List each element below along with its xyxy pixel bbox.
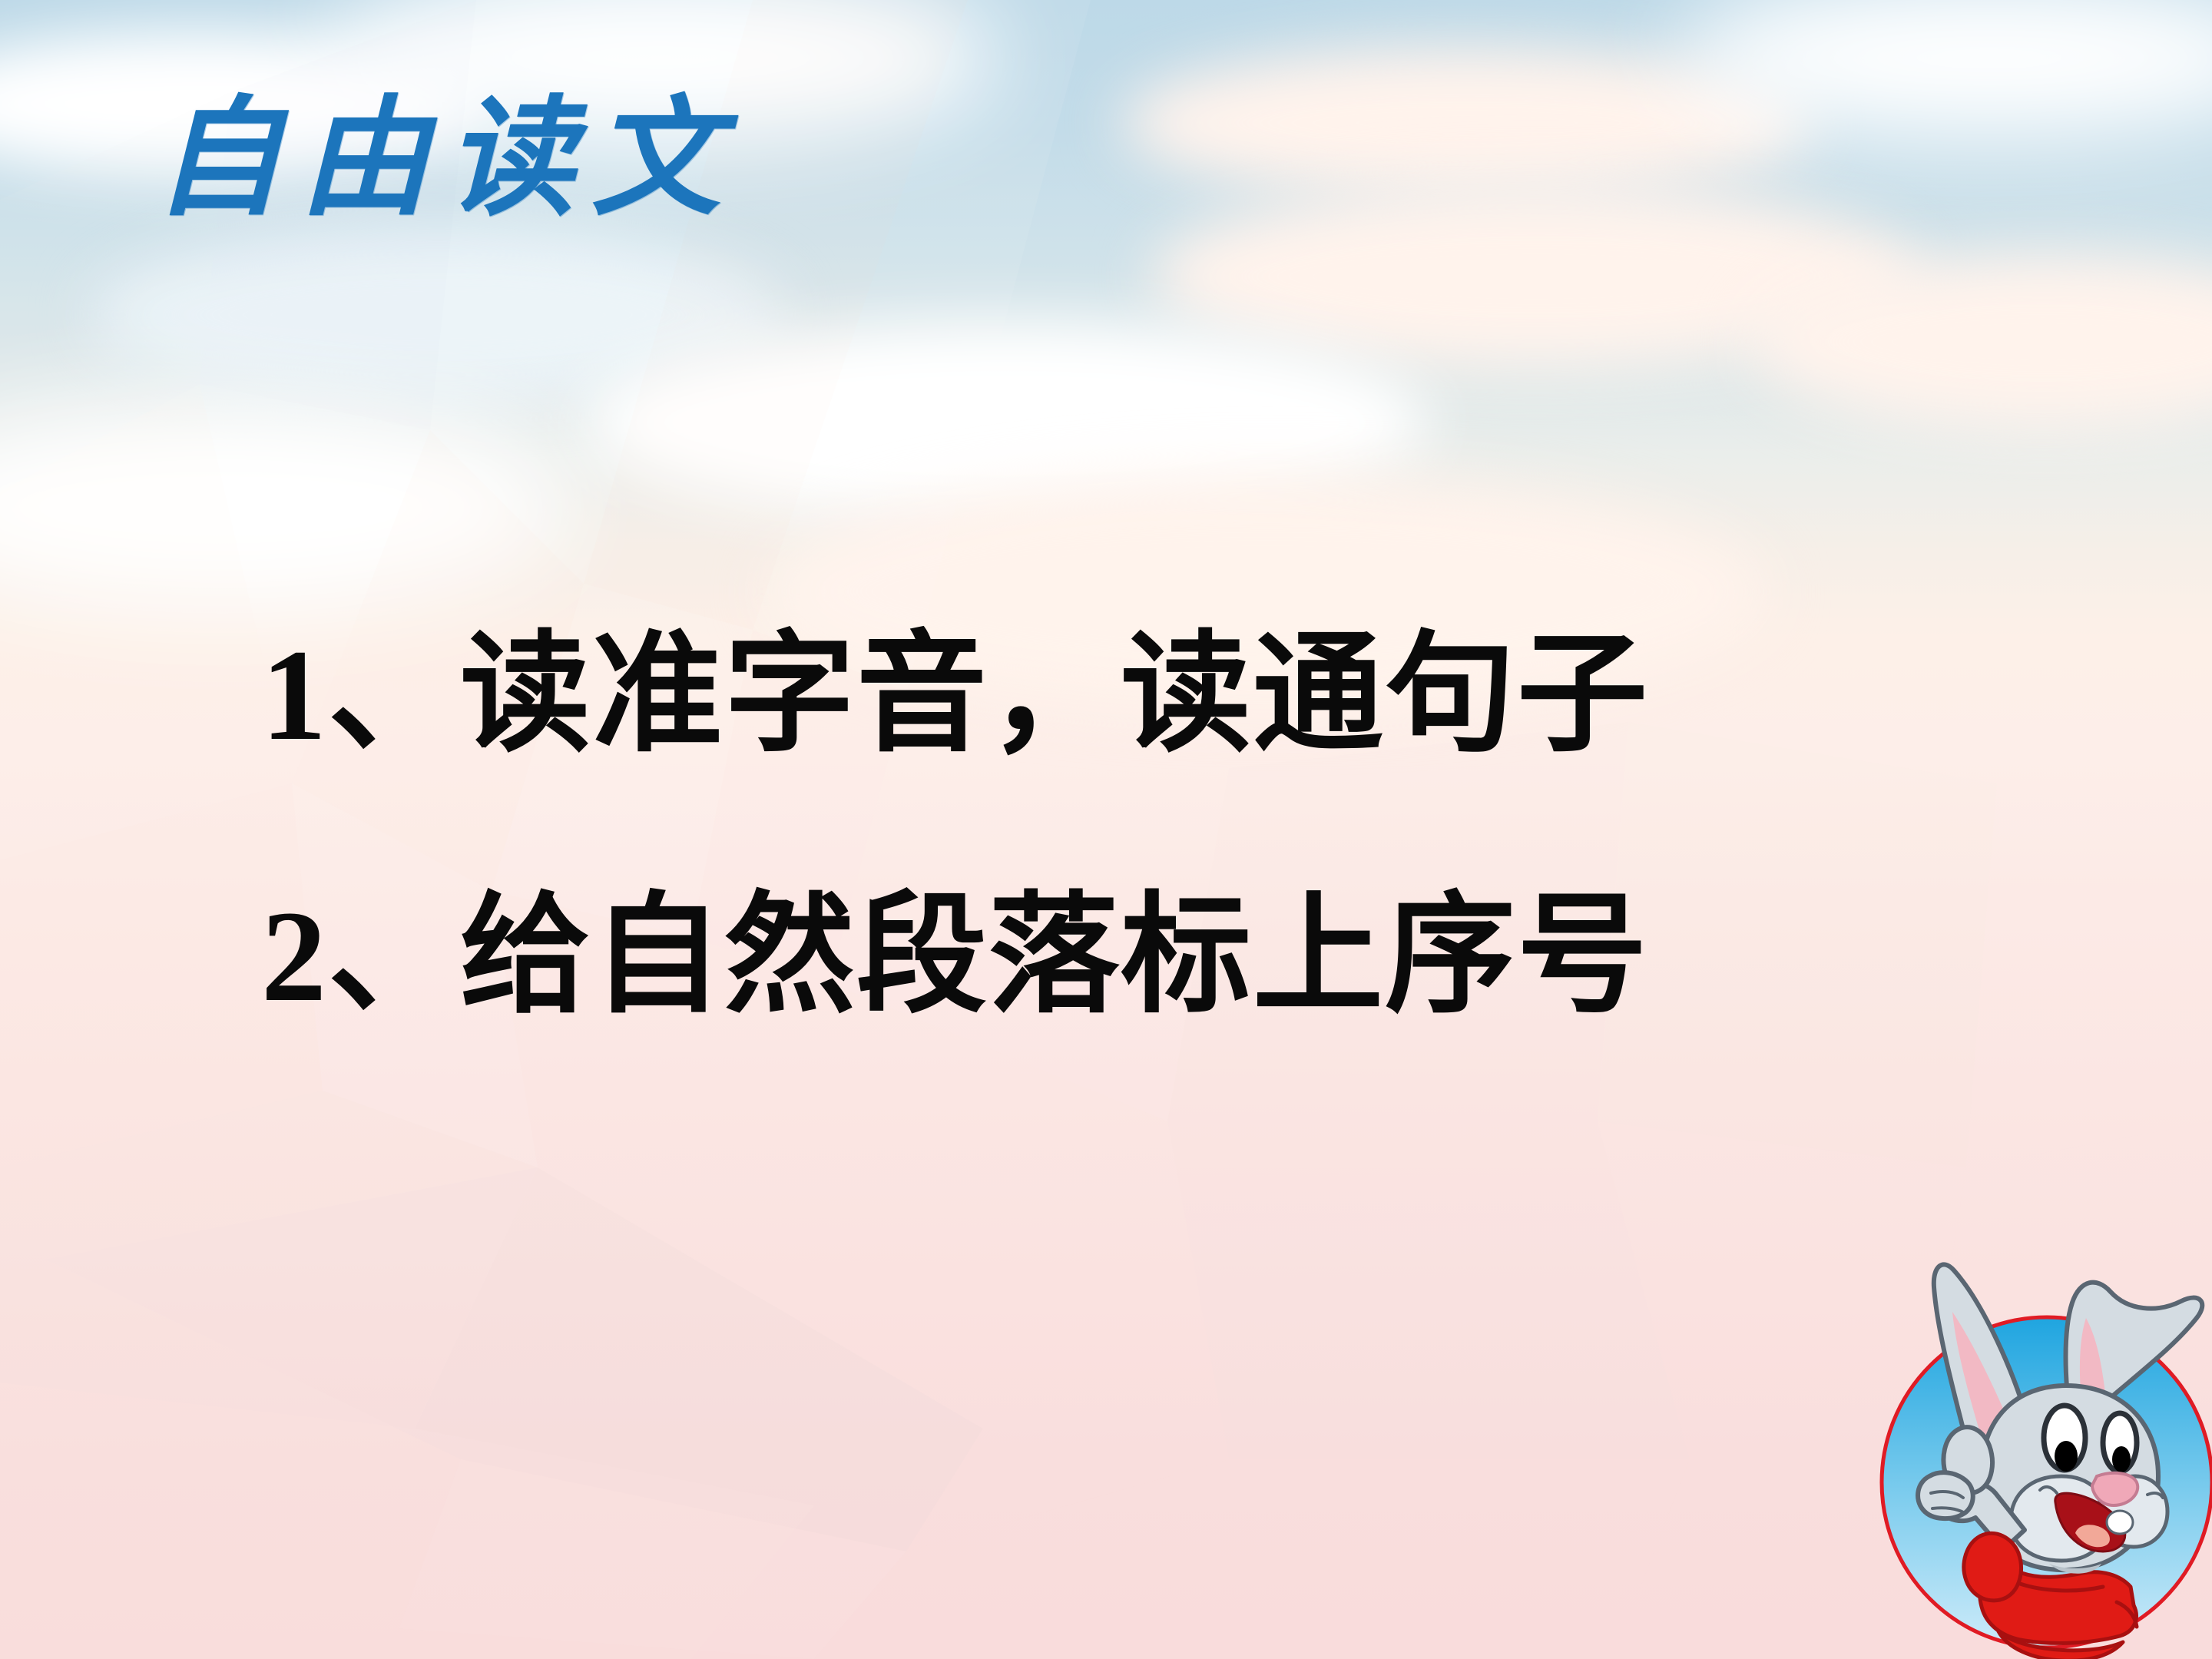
rabbit-nose [2092,1473,2137,1505]
rabbit-left-pupil [2055,1441,2078,1472]
cloud-shape [1152,184,1920,369]
cloud-shape [584,323,1429,522]
cloud-shape [1121,46,1813,200]
rabbit-tooth [2107,1511,2133,1534]
page-title: 自由读文 [154,91,737,230]
cloud-shape [1751,253,2212,430]
slide-canvas: 自由读文 1、读准字音，读通句子 2、给自然段落标上序号 [0,0,2212,1659]
instruction-item-2: 2、给自然段落标上序号 [261,891,1874,1022]
rabbit-right-pupil [2112,1446,2131,1472]
instruction-list: 1、读准字音，读通句子 2、给自然段落标上序号 [261,630,1874,1022]
instruction-item-1: 1、读准字音，读通句子 [261,630,1874,760]
cloud-shape [0,399,568,614]
rabbit-mascot-badge [1866,1229,2212,1659]
cloud-shape [1674,0,2212,138]
rabbit-shirt-sleeve [1964,1533,2022,1600]
cloud-shape [92,230,783,399]
